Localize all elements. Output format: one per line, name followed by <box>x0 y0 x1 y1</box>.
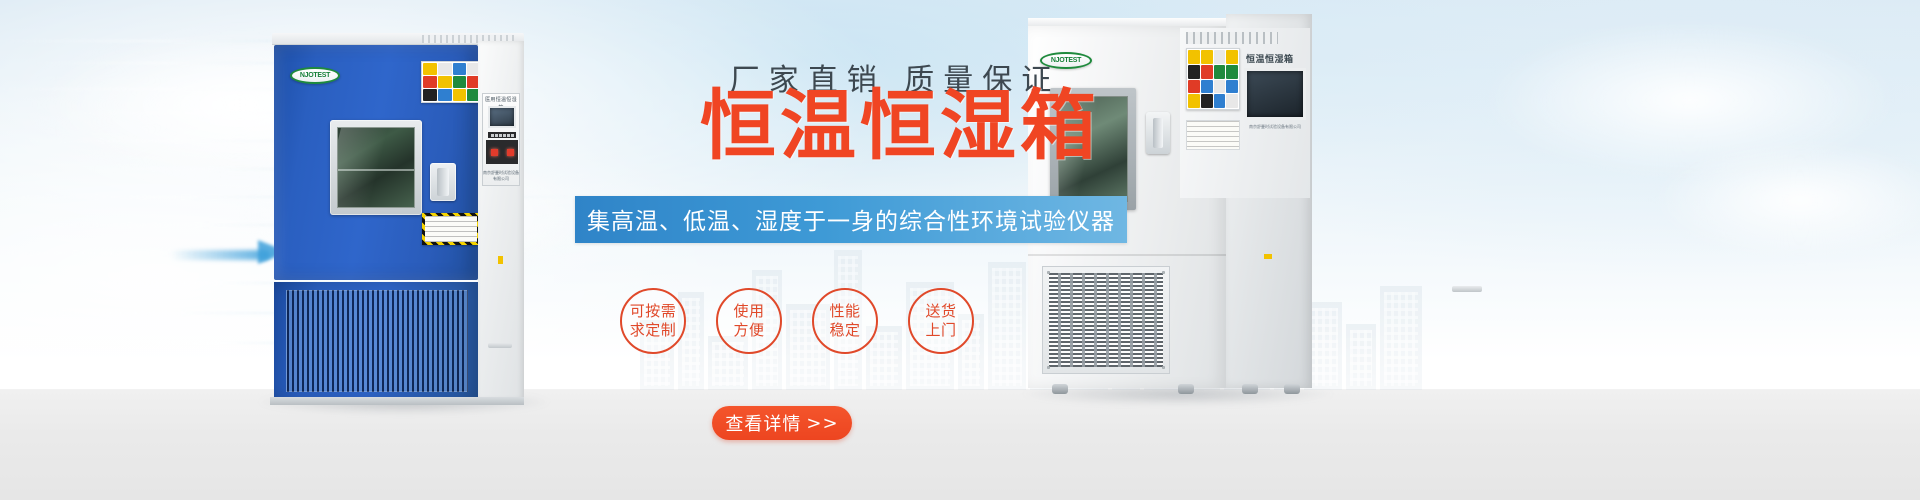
product-image-left-chamber: NJOTEST <box>268 33 526 405</box>
feature-badge-list: 可按需 求定制 使用 方便 性能 稳定 送货 上门 <box>620 288 974 354</box>
feature-badge[interactable]: 可按需 求定制 <box>620 288 686 354</box>
badge-line-1: 性能 <box>829 302 860 321</box>
hazard-instruction-label <box>422 213 480 245</box>
side-panel-handle[interactable] <box>488 343 512 348</box>
controller-display[interactable] <box>488 106 516 128</box>
control-panel-brand: 南京舒曼时试验设备有限公司 <box>483 170 519 182</box>
promo-copy-block: 厂家直销 质量保证 恒温恒湿箱 集高温、低温、湿度于一身的综合性环境试验仪器 可… <box>700 0 1340 500</box>
feature-badge[interactable]: 送货 上门 <box>908 288 974 354</box>
door-handle[interactable] <box>430 163 456 201</box>
chamber-lower-section <box>274 282 478 400</box>
page-title: 恒温恒湿箱 <box>600 88 1200 164</box>
chevron-right-icon: >> <box>806 413 838 434</box>
badge-line-1: 送货 <box>925 302 956 321</box>
subtitle-bar: 集高温、低温、湿度于一身的综合性环境试验仪器 <box>575 196 1127 243</box>
feature-badge[interactable]: 性能 稳定 <box>812 288 878 354</box>
side-panel-handle[interactable] <box>1452 286 1482 292</box>
badge-line-1: 可按需 <box>630 302 677 321</box>
yellow-marker <box>498 256 503 264</box>
control-panel[interactable]: 医用恒温恒湿箱 南京舒曼时试验设备有限公司 <box>482 93 520 186</box>
cta-label: 查看详情 <box>725 410 801 436</box>
view-details-button[interactable]: 查看详情 >> <box>712 406 852 440</box>
machine-base <box>270 397 524 405</box>
badge-line-1: 使用 <box>733 302 764 321</box>
control-column: 医用恒温恒湿箱 南京舒曼时试验设备有限公司 <box>478 41 524 400</box>
chamber-door: NJOTEST <box>274 45 478 280</box>
badge-line-2: 稳定 <box>829 321 860 340</box>
viewing-window-frame <box>330 120 422 215</box>
controller-button-row[interactable] <box>488 132 516 138</box>
brand-logo-badge: NJOTEST <box>290 67 340 84</box>
viewing-window-glass <box>337 127 415 208</box>
indicator-lights <box>486 140 518 164</box>
badge-line-2: 上门 <box>925 321 956 340</box>
condenser-vent-grille <box>286 290 468 392</box>
badge-line-2: 方便 <box>733 321 764 340</box>
warning-label-sticker <box>421 61 483 103</box>
feature-badge[interactable]: 使用 方便 <box>716 288 782 354</box>
airflow-arrow-tail <box>170 250 270 260</box>
promo-banner: NJOTEST <box>0 0 1920 500</box>
control-panel-title: 医用恒温恒湿箱 <box>483 96 519 104</box>
badge-line-2: 求定制 <box>630 321 677 340</box>
